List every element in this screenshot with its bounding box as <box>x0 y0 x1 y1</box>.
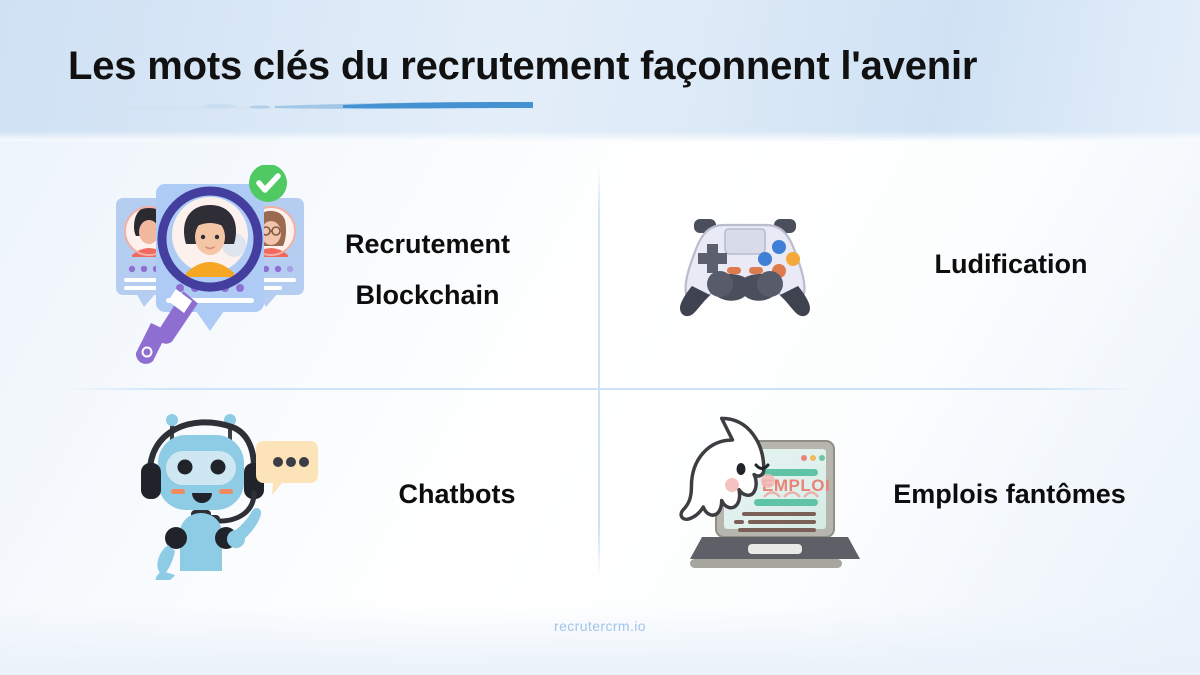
vertical-divider <box>598 165 600 577</box>
quadrant-label-recrutement-blockchain: Recrutement Blockchain <box>320 219 535 322</box>
watermark-brand: recrutercrm.io <box>0 618 1200 634</box>
quadrant-emplois-fantomes[interactable]: EMPLOI Emplois fantôme <box>668 405 1138 585</box>
quadrant-ludification[interactable]: Ludification <box>670 190 1140 340</box>
game-controller-icon <box>670 203 820 328</box>
page-title: Les mots clés du recrutement façonnent l… <box>68 44 977 89</box>
ghost-laptop-icon: EMPLOI <box>668 405 863 585</box>
candidate-search-magnifier-icon <box>110 165 310 375</box>
quadrant-label-chatbots: Chatbots <box>357 469 557 520</box>
horizontal-divider <box>60 388 1140 390</box>
bottom-gradient-fade <box>0 605 1200 675</box>
quadrant-label-emplois-fantomes: Emplois fantômes <box>881 469 1138 520</box>
slide-canvas: Les mots clés du recrutement façonnent l… <box>0 0 1200 675</box>
quadrant-label-ludification: Ludification <box>882 239 1140 290</box>
quadrant-chatbots[interactable]: Chatbots <box>140 405 580 585</box>
chatbot-robot-icon <box>140 405 325 585</box>
quadrant-recrutement-blockchain[interactable]: Recrutement Blockchain <box>110 160 580 380</box>
